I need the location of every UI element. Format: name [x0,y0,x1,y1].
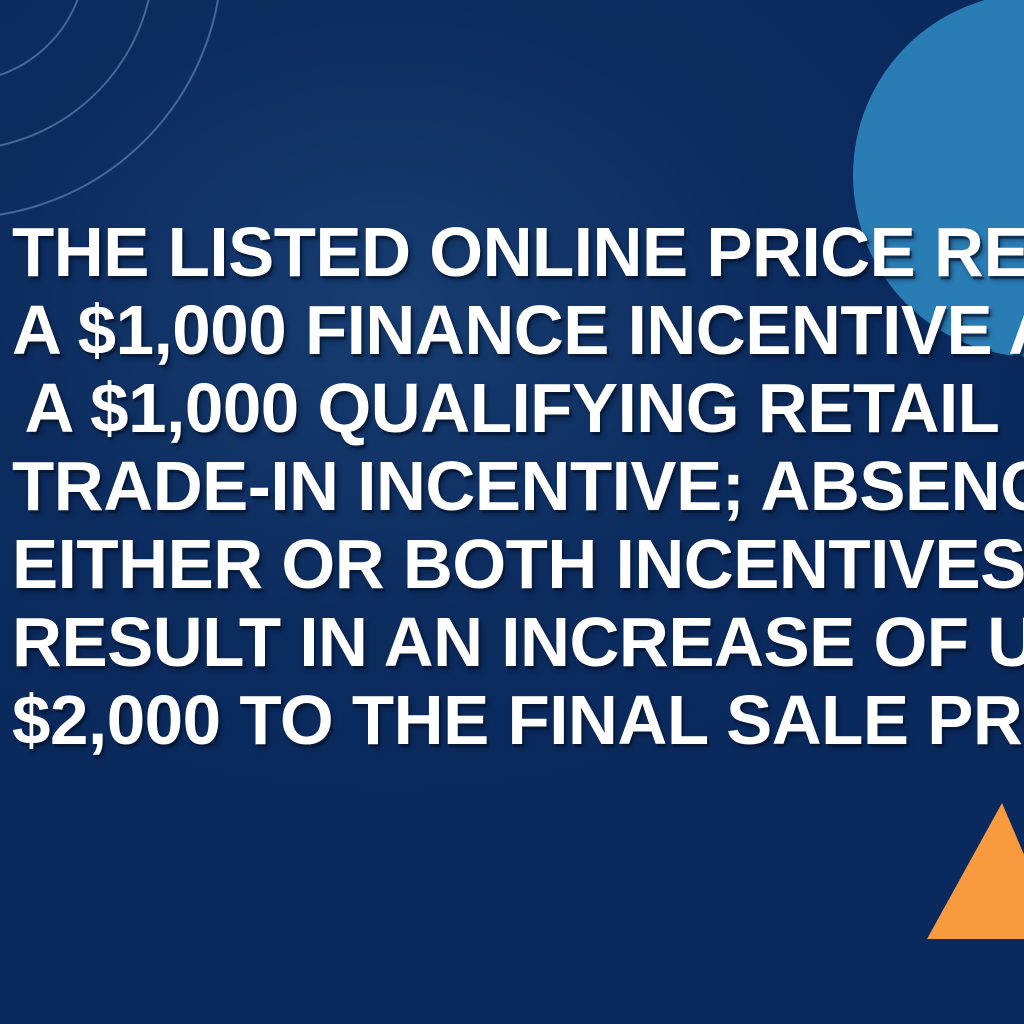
headline-line-2: A $1,000 FINANCE INCENTIVE AND [12,291,1012,369]
disclaimer-graphic: THE LISTED ONLINE PRICE REFLECTS A $1,00… [0,0,1024,1024]
orange-triangle-decoration [900,790,1024,955]
headline-line-5: EITHER OR BOTH INCENTIVES WILL [12,525,1012,603]
headline-line-3: A $1,000 QUALIFYING RETAIL [12,369,1012,447]
headline-line-1: THE LISTED ONLINE PRICE REFLECTS [12,213,1012,291]
headline-line-7: $2,000 TO THE FINAL SALE PRICE. [12,681,1012,759]
headline-line-6: RESULT IN AN INCREASE OF UP TO [12,603,1012,681]
headline-line-4: TRADE-IN INCENTIVE; ABSENCE OF [12,447,1012,525]
headline-text-block: THE LISTED ONLINE PRICE REFLECTS A $1,00… [0,213,1024,759]
